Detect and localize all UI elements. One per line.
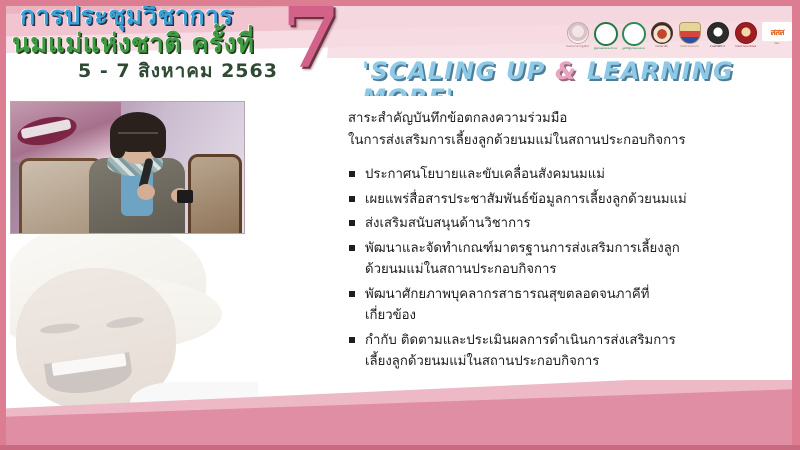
list-item: พัฒนาและจัดทำเกณฑ์มาตรฐานการส่งเสริมการเ… — [348, 238, 768, 281]
slide-frame-bottom — [0, 445, 800, 450]
speaker-hand-left — [137, 184, 155, 200]
thai-breastfeeding-icon — [622, 22, 646, 46]
content-lead: สาระสำคัญบันทึกข้อตกลงความร่วมมือ ในการส… — [348, 108, 768, 152]
logo-caption: มูลนิธิศูนย์นมแม่แห่งประเทศไทย — [622, 47, 645, 50]
royal-emblem-icon — [567, 22, 589, 44]
thaihealth-icon: สสส — [762, 22, 792, 41]
speaker-video-frame[interactable] — [10, 101, 245, 234]
bullet-line-2: เกี่ยวข้อง — [365, 305, 768, 327]
bullet-line-1: เผยแพร่สื่อสารประชาสัมพันธ์ข้อมูลการเลี้… — [365, 189, 768, 211]
conference-title-line-1: การประชุมวิชาการ — [20, 2, 233, 30]
slide-frame-left — [0, 0, 6, 450]
agreement-bullet-list: ประกาศนโยบายและขับเคลื่อนสังคมนมแม่ เผยแ… — [348, 164, 768, 373]
royal-emblem-logo: ในพระบรมราชูปถัมภ์ — [566, 22, 589, 52]
presentation-slide: สาระสำคัญบันทึกข้อตกลงความร่วมมือ ในการส… — [0, 0, 800, 450]
lead-line-2: ในการส่งเสริมการเลี้ยงลูกด้วยนมแม่ในสถาน… — [348, 130, 768, 152]
list-item: ประกาศนโยบายและขับเคลื่อนสังคมนมแม่ — [348, 164, 768, 186]
logo-caption: ศูนย์นมแม่แห่งประเทศไทย — [594, 47, 617, 50]
slide-content-column: สาระสำคัญบันทึกข้อตกลงความร่วมมือ ในการส… — [348, 108, 768, 376]
slide-frame-right — [792, 0, 800, 450]
lead-line-1: สาระสำคัญบันทึกข้อตกลงความร่วมมือ — [348, 108, 768, 130]
tagline-prefix: 'SCALING UP — [362, 57, 555, 85]
bullet-square-icon — [349, 291, 355, 297]
bullet-line-1: พัฒนาศักยภาพบุคลากรสาธารณสุขตลอดจนภาคีที… — [365, 284, 768, 306]
list-item: เผยแพร่สื่อสารประชาสัมพันธ์ข้อมูลการเลี้… — [348, 189, 768, 211]
list-item: กำกับ ติดตามและประเมินผลการดำเนินการส่งเ… — [348, 330, 768, 373]
edition-number: 7 — [282, 0, 340, 80]
conference-title-line-2: นมแม่แห่งชาติ ครั้งที่ — [12, 30, 254, 59]
bullet-square-icon — [349, 196, 355, 202]
list-item: ส่งเสริมสนับสนุนด้านวิชาการ — [348, 213, 768, 235]
logo-caption: กระทรวงมหาดไทย — [734, 45, 757, 48]
armchair-right — [188, 154, 242, 234]
logo-caption: สสส. — [762, 42, 792, 45]
conference-header-banner: 7 การประชุมวิชาการ นมแม่แห่งชาติ ครั้งที… — [0, 0, 800, 96]
logo-caption: กระทรวงแรงงาน — [678, 45, 701, 48]
bottom-decorative-band — [0, 380, 800, 450]
thai-breastfeeding-logo: มูลนิธิศูนย์นมแม่แห่งประเทศไทย — [622, 22, 645, 52]
ministry-public-health-logo: กรมอนามัย — [650, 22, 673, 52]
breastfeeding-center-icon — [594, 22, 618, 46]
bullet-square-icon — [349, 245, 355, 251]
conference-tagline: 'SCALING UP & LEARNING MORE' — [362, 58, 800, 96]
national-emblem-logo: กระทรวงแรงงาน — [678, 22, 701, 52]
bullet-line-1: กำกับ ติดตามและประเมินผลการดำเนินการส่งเ… — [365, 330, 768, 352]
partner-logo-strip: ในพระบรมราชูปถัมภ์ ศูนย์นมแม่แห่งประเทศไ… — [566, 22, 792, 52]
tagline-ampersand: & — [555, 57, 577, 85]
logo-caption: ในพระบรมราชูปถัมภ์ — [566, 45, 589, 48]
speaker-glasses — [118, 132, 158, 143]
ministry-public-health-icon — [651, 22, 673, 44]
ministry-labour-logo: กรมสวัสดิการ — [706, 22, 729, 52]
bullet-line-1: ประกาศนโยบายและขับเคลื่อนสังคมนมแม่ — [365, 164, 768, 186]
bullet-line-1: พัฒนาและจัดทำเกณฑ์มาตรฐานการส่งเสริมการเ… — [365, 238, 768, 260]
national-emblem-icon — [679, 22, 701, 44]
bullet-line-1: ส่งเสริมสนับสนุนด้านวิชาการ — [365, 213, 768, 235]
garuda-seal-icon — [735, 22, 757, 44]
ministry-labour-icon — [707, 22, 729, 44]
slide-frame-top — [0, 0, 800, 6]
breastfeeding-center-logo: ศูนย์นมแม่แห่งประเทศไทย — [594, 22, 617, 52]
list-item: พัฒนาศักยภาพบุคลากรสาธารณสุขตลอดจนภาคีที… — [348, 284, 768, 327]
bullet-square-icon — [349, 220, 355, 226]
thaihealth-logo: สสส สสส. — [762, 22, 792, 52]
bullet-square-icon — [349, 171, 355, 177]
bullet-line-2: ด้วยนมแม่ในสถานประกอบกิจการ — [365, 259, 768, 281]
logo-caption: กรมสวัสดิการ — [706, 45, 729, 48]
presenter-remote — [177, 190, 193, 203]
garuda-seal-logo: กระทรวงมหาดไทย — [734, 22, 757, 52]
conference-date: 5 - 7 สิงหาคม 2563 — [78, 60, 278, 82]
bullet-line-2: เลี้ยงลูกด้วยนมแม่ในสถานประกอบกิจการ — [365, 351, 768, 373]
logo-caption: กรมอนามัย — [650, 45, 673, 48]
bullet-square-icon — [349, 337, 355, 343]
